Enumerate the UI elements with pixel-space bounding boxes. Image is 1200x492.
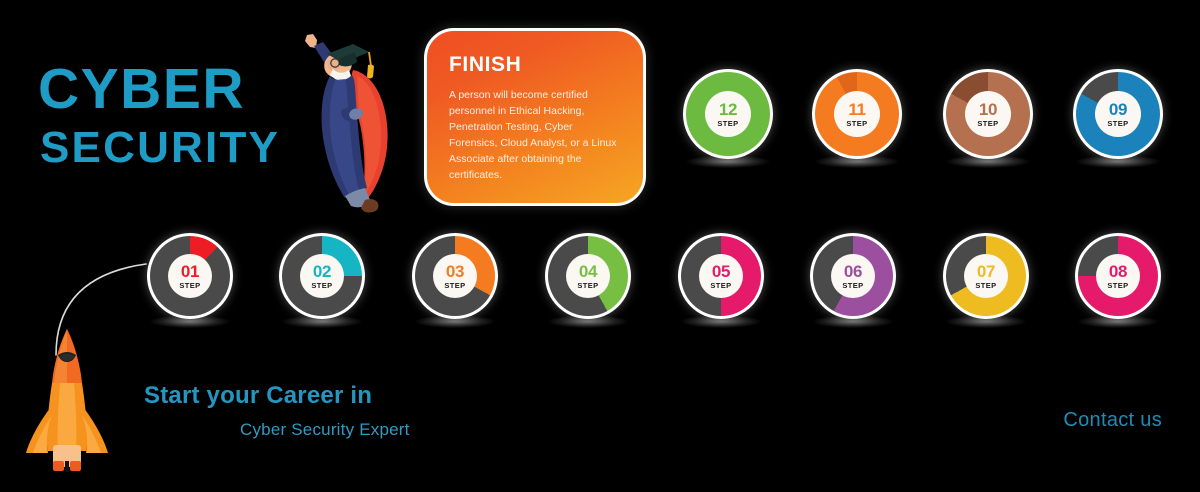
finish-card-title: FINISH bbox=[449, 53, 623, 77]
step-node-hub: 05STEP bbox=[699, 254, 743, 298]
step-node-08[interactable]: 08STEP bbox=[1075, 233, 1161, 319]
step-number: 07 bbox=[977, 263, 995, 280]
step-node-hub: 02STEP bbox=[300, 254, 344, 298]
step-word-label: STEP bbox=[577, 282, 598, 290]
step-node-ring-border: 07STEP bbox=[943, 233, 1029, 319]
step-word-label: STEP bbox=[710, 282, 731, 290]
step-node-ring-border: 12STEP bbox=[683, 69, 773, 159]
step-node-hub: 11STEP bbox=[834, 91, 880, 137]
step-node-04[interactable]: 04STEP bbox=[545, 233, 631, 319]
step-word-label: STEP bbox=[311, 282, 332, 290]
step-node-07[interactable]: 07STEP bbox=[943, 233, 1029, 319]
step-word-label: STEP bbox=[1107, 120, 1128, 128]
step-node-ring-border: 08STEP bbox=[1075, 233, 1161, 319]
step-node-ring-border: 02STEP bbox=[279, 233, 365, 319]
step-node-02[interactable]: 02STEP bbox=[279, 233, 365, 319]
step-word-label: STEP bbox=[977, 120, 998, 128]
step-node-hub: 03STEP bbox=[433, 254, 477, 298]
step-word-label: STEP bbox=[975, 282, 996, 290]
rocket-icon bbox=[22, 325, 112, 475]
step-node-ring-border: 03STEP bbox=[412, 233, 498, 319]
cta-headline: Start your Career in bbox=[144, 382, 410, 410]
step-node-03[interactable]: 03STEP bbox=[412, 233, 498, 319]
step-node-ring-border: 05STEP bbox=[678, 233, 764, 319]
page-title: CYBER SECURITY bbox=[38, 62, 280, 170]
finish-card-body: A person will become certified personnel… bbox=[449, 88, 623, 184]
step-node-hub: 01STEP bbox=[168, 254, 212, 298]
step-word-label: STEP bbox=[846, 120, 867, 128]
contact-us-link[interactable]: Contact us bbox=[1063, 409, 1162, 432]
step-number: 03 bbox=[446, 263, 464, 280]
step-number: 08 bbox=[1109, 263, 1127, 280]
step-word-label: STEP bbox=[1107, 282, 1128, 290]
infographic-canvas: CYBER SECURITY bbox=[0, 0, 1200, 492]
step-number: 09 bbox=[1109, 101, 1127, 118]
step-node-ring-border: 09STEP bbox=[1073, 69, 1163, 159]
step-node-ring-border: 06STEP bbox=[810, 233, 896, 319]
step-word-label: STEP bbox=[717, 120, 738, 128]
step-node-hub: 04STEP bbox=[566, 254, 610, 298]
step-node-06[interactable]: 06STEP bbox=[810, 233, 896, 319]
cta-block: Start your Career in Cyber Security Expe… bbox=[144, 382, 410, 440]
step-node-10[interactable]: 10STEP bbox=[943, 69, 1033, 159]
step-node-ring-border: 04STEP bbox=[545, 233, 631, 319]
step-node-ring-border: 11STEP bbox=[812, 69, 902, 159]
step-node-hub: 06STEP bbox=[831, 254, 875, 298]
finish-card: FINISH A person will become certified pe… bbox=[424, 28, 646, 206]
flying-graduate-icon bbox=[283, 18, 408, 218]
step-word-label: STEP bbox=[179, 282, 200, 290]
step-node-hub: 09STEP bbox=[1095, 91, 1141, 137]
step-word-label: STEP bbox=[444, 282, 465, 290]
step-number: 04 bbox=[579, 263, 597, 280]
step-number: 01 bbox=[181, 263, 199, 280]
step-node-hub: 12STEP bbox=[705, 91, 751, 137]
step-number: 10 bbox=[979, 101, 997, 118]
step-word-label: STEP bbox=[842, 282, 863, 290]
step-node-hub: 08STEP bbox=[1096, 254, 1140, 298]
step-node-ring-border: 10STEP bbox=[943, 69, 1033, 159]
title-line-cyber: CYBER bbox=[38, 62, 280, 118]
step-number: 05 bbox=[712, 263, 730, 280]
step-number: 12 bbox=[719, 101, 737, 118]
step-node-ring-border: 01STEP bbox=[147, 233, 233, 319]
cta-subline: Cyber Security Expert bbox=[240, 420, 410, 440]
title-line-security: SECURITY bbox=[40, 126, 280, 170]
step-number: 06 bbox=[844, 263, 862, 280]
step-node-hub: 07STEP bbox=[964, 254, 1008, 298]
step-node-11[interactable]: 11STEP bbox=[812, 69, 902, 159]
step-node-09[interactable]: 09STEP bbox=[1073, 69, 1163, 159]
step-number: 02 bbox=[313, 263, 331, 280]
step-node-01[interactable]: 01STEP bbox=[147, 233, 233, 319]
step-node-12[interactable]: 12STEP bbox=[683, 69, 773, 159]
step-number: 11 bbox=[848, 101, 865, 118]
step-node-05[interactable]: 05STEP bbox=[678, 233, 764, 319]
step-node-hub: 10STEP bbox=[965, 91, 1011, 137]
